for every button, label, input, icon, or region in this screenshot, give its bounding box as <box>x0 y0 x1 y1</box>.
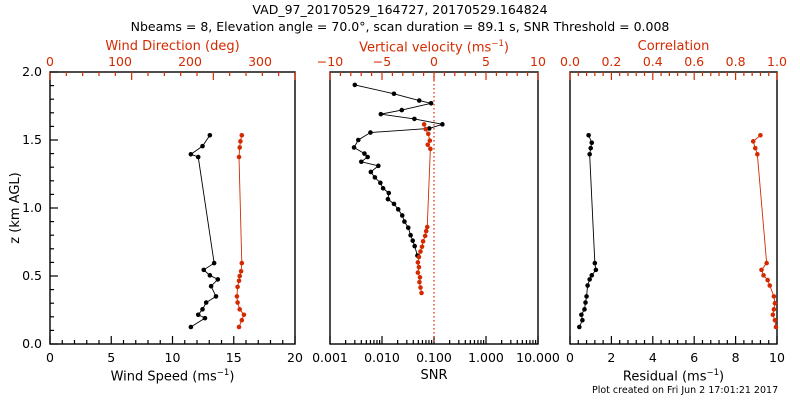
data-point <box>406 225 411 230</box>
data-point <box>761 273 766 278</box>
data-point <box>416 270 421 275</box>
data-point <box>373 175 378 180</box>
xtick-label-bottom: 0.100 <box>416 350 452 365</box>
xtick-label-top: 1.0 <box>767 54 787 69</box>
data-point <box>589 273 594 278</box>
xtick-label-top: 0.4 <box>643 54 663 69</box>
xtick-label-bottom: 4 <box>649 350 657 365</box>
data-point <box>419 291 424 296</box>
data-point <box>418 285 423 290</box>
data-point <box>353 83 358 88</box>
xaxis-label-middle: SNR <box>420 368 447 383</box>
plot-created-footer: Plot created on Fri Jun 2 17:01:21 2017 <box>592 385 778 396</box>
xtick-label-bottom: 2 <box>607 350 615 365</box>
xtick-label-top: 100 <box>108 54 132 69</box>
data-point <box>429 101 434 106</box>
xtick-label-top: 10 <box>530 54 546 69</box>
xtick-label-bottom: 1.000 <box>468 350 504 365</box>
data-point <box>237 145 242 150</box>
data-point <box>580 318 585 323</box>
data-point <box>765 278 770 283</box>
top-axis-label-right: Correlation <box>638 39 710 54</box>
data-point <box>200 307 205 312</box>
data-point <box>751 139 756 144</box>
xtick-label-top: −5 <box>373 54 391 69</box>
data-point <box>420 244 425 249</box>
data-point <box>237 325 242 330</box>
data-point <box>368 130 373 135</box>
xtick-label-bottom: 0.001 <box>312 350 348 365</box>
data-point <box>583 300 588 305</box>
data-point <box>196 155 201 160</box>
data-point <box>440 122 445 127</box>
data-point <box>237 155 242 160</box>
data-point <box>579 312 584 317</box>
data-point <box>421 239 426 244</box>
panel-frame-right <box>570 72 777 344</box>
data-point <box>418 275 423 280</box>
xtick-label-top: 0.6 <box>684 54 704 69</box>
data-point <box>235 294 240 299</box>
data-point <box>416 260 421 265</box>
data-point <box>212 261 217 266</box>
data-point <box>417 265 422 270</box>
xtick-label-top: 0 <box>46 54 54 69</box>
xtick-label-bottom: 0 <box>566 350 574 365</box>
data-point <box>425 225 430 230</box>
xtick-label-bottom: 0 <box>46 350 54 365</box>
data-point <box>362 151 367 156</box>
top-axis-label-middle: Vertical velocity (ms−1) <box>359 39 509 55</box>
xtick-label-bottom: 0.010 <box>364 350 400 365</box>
top-axis-label-left: Wind Direction (deg) <box>105 39 239 54</box>
data-point <box>242 312 247 317</box>
data-point <box>386 197 391 202</box>
data-point <box>208 133 213 138</box>
data-point <box>237 307 242 312</box>
data-point <box>412 244 417 249</box>
data-point <box>588 146 593 151</box>
data-point <box>418 249 423 254</box>
data-point <box>214 294 219 299</box>
yaxis-label: z (km AGL) <box>8 172 23 243</box>
xtick-label-top: 300 <box>248 54 272 69</box>
data-point <box>582 307 587 312</box>
data-point <box>584 294 589 299</box>
data-point <box>773 301 778 306</box>
data-point <box>235 285 240 290</box>
data-point <box>587 277 592 282</box>
xtick-label-bottom: 8 <box>732 350 740 365</box>
data-point <box>208 273 213 278</box>
data-point <box>758 133 763 138</box>
data-point <box>772 307 777 312</box>
data-point <box>753 146 758 151</box>
data-point <box>587 152 592 157</box>
data-point <box>356 138 361 143</box>
data-point <box>200 144 205 149</box>
data-point <box>378 181 383 186</box>
data-point <box>423 127 428 132</box>
data-point <box>764 261 769 266</box>
data-point <box>428 147 433 152</box>
data-point <box>399 108 404 113</box>
data-point <box>767 283 772 288</box>
data-point <box>425 142 430 147</box>
xtick-label-top: 0 <box>430 54 438 69</box>
data-point <box>772 294 777 299</box>
data-point <box>422 122 427 127</box>
xtick-label-bottom: 15 <box>226 350 242 365</box>
series-line-wind-speed <box>191 135 218 327</box>
data-point <box>417 280 422 285</box>
data-point <box>376 164 381 169</box>
data-point <box>412 117 417 122</box>
panel-frame-left <box>50 72 295 344</box>
data-point <box>216 277 221 282</box>
data-point <box>189 325 194 330</box>
data-point <box>352 145 357 150</box>
data-point <box>424 229 429 234</box>
data-point <box>426 132 431 137</box>
xtick-label-bottom: 10.000 <box>516 350 560 365</box>
data-point <box>392 202 397 207</box>
ytick-label: 0.0 <box>8 336 42 351</box>
data-point <box>235 300 240 305</box>
data-point <box>585 283 590 288</box>
data-point <box>759 268 764 273</box>
data-point <box>417 98 422 103</box>
data-point <box>400 213 405 218</box>
data-point <box>237 274 242 279</box>
xtick-label-bottom: 6 <box>690 350 698 365</box>
data-point <box>239 269 244 274</box>
xtick-label-bottom: 10 <box>769 350 785 365</box>
xtick-label-top: 0.0 <box>560 54 580 69</box>
data-point <box>594 268 599 273</box>
data-point <box>774 325 779 330</box>
data-point <box>189 152 194 157</box>
data-point <box>240 133 245 138</box>
data-point <box>577 325 582 330</box>
ytick-label: 1.5 <box>8 132 42 147</box>
xtick-label-bottom: 5 <box>107 350 115 365</box>
xtick-label-top: 0.2 <box>601 54 621 69</box>
vad-plot-figure: VAD_97_20170529_164727, 20170529.164824 … <box>0 0 800 400</box>
data-point <box>402 219 407 224</box>
data-point <box>428 138 433 143</box>
data-point <box>408 233 413 238</box>
ytick-label: 2.0 <box>8 64 42 79</box>
data-point <box>201 268 206 273</box>
data-point <box>237 278 242 283</box>
data-point <box>386 191 391 196</box>
xaxis-label-left: Wind Speed (ms−1) <box>111 368 235 384</box>
data-point <box>196 312 201 317</box>
data-point <box>755 152 760 157</box>
data-point <box>238 139 243 144</box>
data-point <box>423 234 428 239</box>
data-point <box>410 238 415 243</box>
data-point <box>773 318 778 323</box>
data-point <box>209 284 214 289</box>
xtick-label-top: 0.8 <box>726 54 746 69</box>
data-point <box>381 186 386 191</box>
xtick-label-top: 5 <box>482 54 490 69</box>
xtick-label-top: 200 <box>178 54 202 69</box>
data-point <box>240 261 245 266</box>
data-point <box>203 316 208 321</box>
xtick-label-bottom: 10 <box>165 350 181 365</box>
data-point <box>771 312 776 317</box>
data-point <box>593 261 598 266</box>
data-point <box>379 112 384 117</box>
xaxis-label-right: Residual (ms−1) <box>623 368 724 384</box>
xtick-label-bottom: 20 <box>287 350 303 365</box>
data-point <box>392 91 397 96</box>
data-point <box>589 140 594 145</box>
data-point <box>417 255 422 260</box>
data-point <box>586 133 591 138</box>
xtick-label-top: −10 <box>317 54 343 69</box>
data-point <box>359 159 364 164</box>
data-point <box>204 300 209 305</box>
data-point <box>240 318 245 323</box>
data-point <box>369 170 374 175</box>
data-point <box>365 155 370 160</box>
data-point <box>396 207 401 212</box>
ytick-label: 0.5 <box>8 268 42 283</box>
